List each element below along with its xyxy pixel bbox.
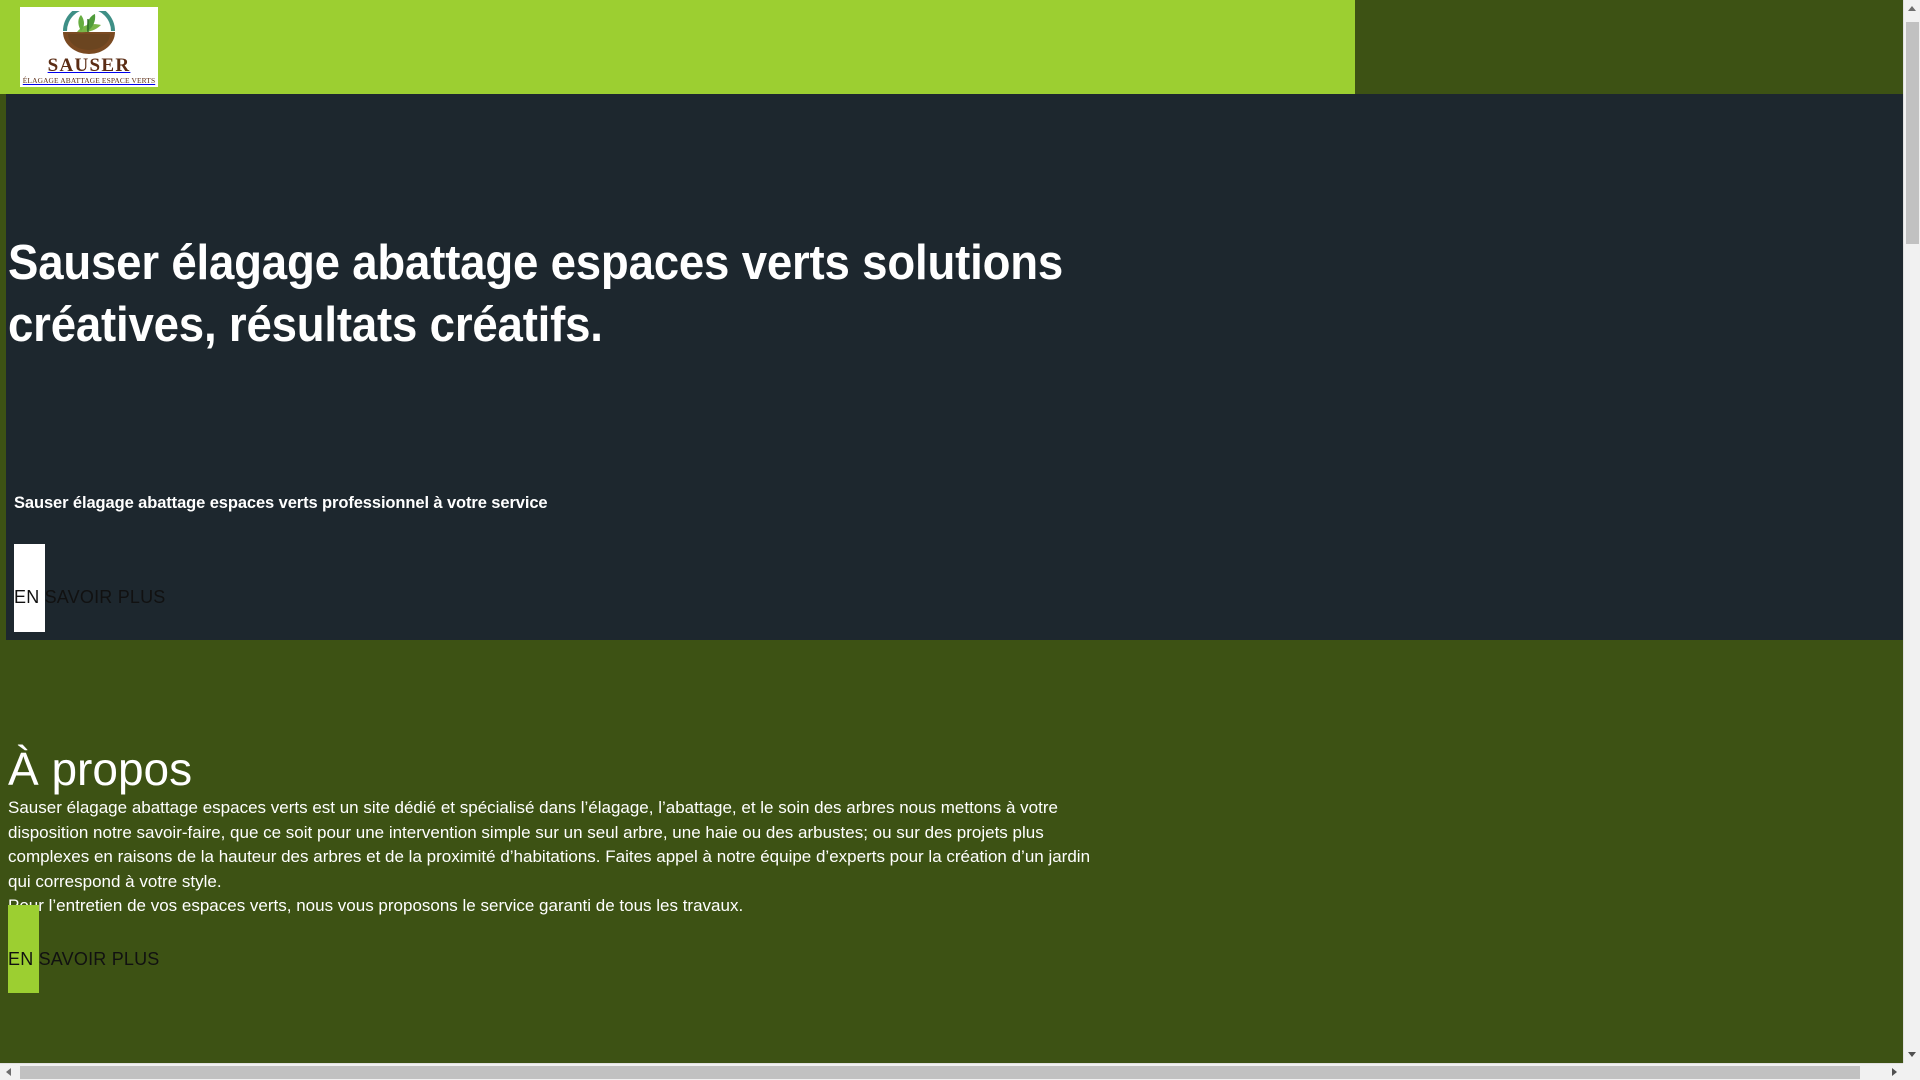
vertical-scrollbar[interactable] bbox=[1903, 0, 1920, 1063]
horizontal-scrollbar-thumb[interactable] bbox=[20, 1066, 1860, 1079]
logo-wordmark: SAUSER bbox=[48, 56, 131, 75]
about-title: À propos bbox=[8, 744, 192, 795]
about-body: Sauser élagage abattage espaces verts es… bbox=[8, 796, 1093, 919]
leaf-in-bowl-logo-icon bbox=[57, 11, 121, 55]
site-logo[interactable]: SAUSER ÉLAGAGE ABATTAGE ESPACE VERTS bbox=[20, 7, 158, 87]
scrollbar-corner bbox=[1903, 1063, 1920, 1080]
site-header: SAUSER ÉLAGAGE ABATTAGE ESPACE VERTS bbox=[0, 0, 1355, 94]
horizontal-scrollbar[interactable] bbox=[0, 1063, 1903, 1080]
hero-learn-more-button[interactable] bbox=[14, 544, 45, 632]
logo-tagline: ÉLAGAGE ABATTAGE ESPACE VERTS bbox=[23, 77, 155, 85]
header-inner: SAUSER ÉLAGAGE ABATTAGE ESPACE VERTS bbox=[0, 0, 1355, 94]
hero-subtitle: Sauser élagage abattage espaces verts pr… bbox=[14, 494, 548, 513]
scroll-down-arrow-icon[interactable] bbox=[1904, 1046, 1920, 1063]
scroll-up-arrow-icon[interactable] bbox=[1904, 0, 1920, 17]
about-learn-more-button[interactable] bbox=[8, 905, 39, 993]
about-paragraph-1: Sauser élagage abattage espaces verts es… bbox=[8, 796, 1093, 894]
browser-viewport: SAUSER ÉLAGAGE ABATTAGE ESPACE VERTS Sau… bbox=[0, 0, 1903, 1063]
about-paragraph-2: Pour l’entretien de vos espaces verts, n… bbox=[8, 894, 1093, 919]
hero-title: Sauser élagage abattage espaces verts so… bbox=[8, 232, 1105, 356]
scroll-left-arrow-icon[interactable] bbox=[0, 1064, 17, 1080]
vertical-scrollbar-thumb[interactable] bbox=[1906, 22, 1919, 244]
hero-inner: Sauser élagage abattage espaces verts so… bbox=[6, 94, 1186, 640]
about-section: À propos Sauser élagage abattage espaces… bbox=[0, 640, 1903, 1063]
scroll-right-arrow-icon[interactable] bbox=[1886, 1064, 1903, 1080]
hero-section: Sauser élagage abattage espaces verts so… bbox=[6, 94, 1903, 640]
